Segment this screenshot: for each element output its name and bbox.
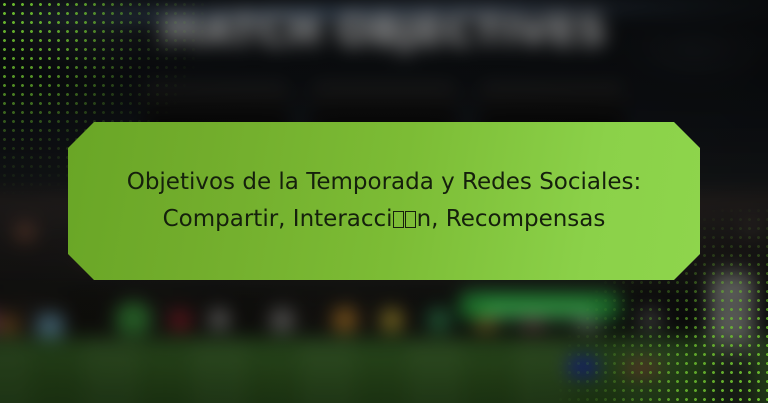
banner-line2-after: n, Recompensas: [417, 206, 606, 232]
signage-blob-blue: [568, 357, 598, 377]
signage-blob-red: [625, 362, 659, 375]
player-shirt-number: 26: [715, 294, 742, 318]
missing-glyph-box: [393, 211, 404, 228]
title-banner: Objetivos de la Temporada y Redes Social…: [68, 122, 700, 280]
missing-glyph-box: [405, 211, 416, 228]
led-advert-text: [486, 310, 591, 317]
advertising-hoarding: [0, 294, 768, 341]
banner-title-line-1: Objetivos de la Temporada y Redes Social…: [127, 164, 642, 201]
signage-letter-n: [37, 314, 63, 338]
banner-line2-before: Compartir, Interacci: [163, 206, 393, 232]
screenshot-root: MATCH OBJECTIVES 26 Objetivos: [0, 0, 768, 403]
player-silhouette: [710, 265, 754, 403]
banner-title-line-2: Compartir, Interaccin, Recompensas: [163, 201, 606, 238]
page-headline: MATCH OBJECTIVES: [0, 8, 768, 54]
